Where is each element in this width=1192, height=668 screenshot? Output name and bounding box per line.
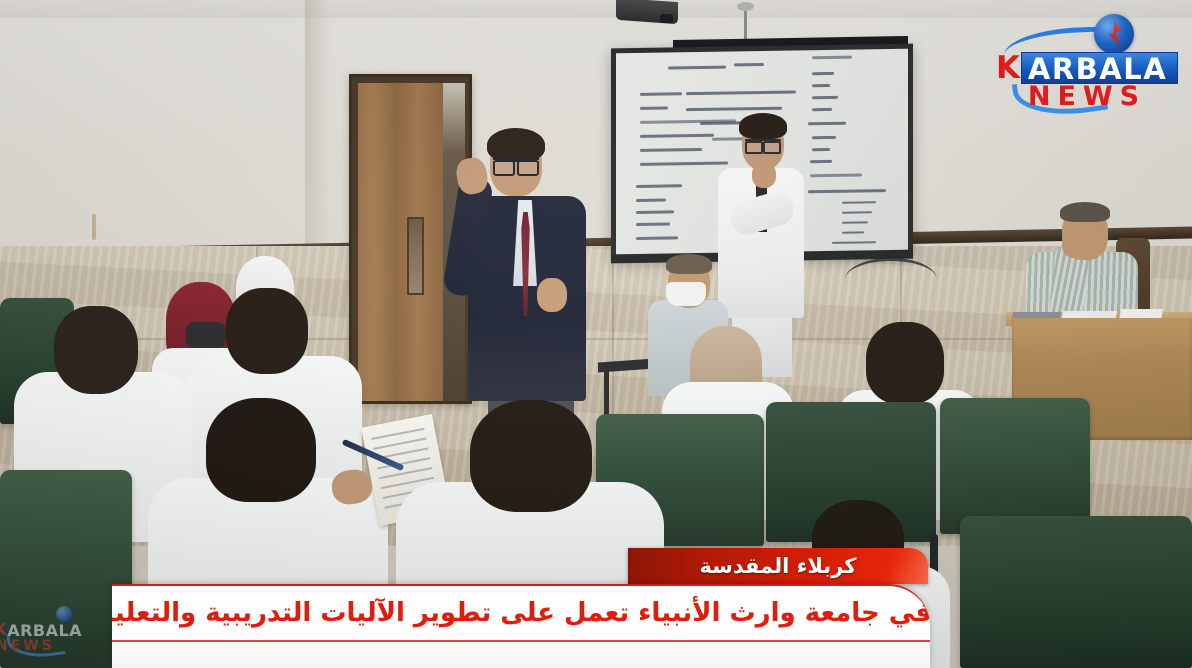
labcoat-man-glasses-icon xyxy=(745,139,781,148)
ceiling-rod xyxy=(744,6,747,40)
student-right-head xyxy=(866,322,944,404)
seated-man-hair xyxy=(1060,202,1110,222)
wall-corner xyxy=(305,0,331,250)
ceiling-rod-knob xyxy=(737,2,754,11)
student-far-left-head xyxy=(54,306,138,394)
black-face-mask-icon xyxy=(186,322,226,348)
student-back-left-head xyxy=(226,288,308,374)
labcoat-man-hair xyxy=(739,113,787,139)
logo-globe-icon xyxy=(1094,14,1134,54)
door-leaf xyxy=(358,83,444,401)
channel-logo: K ARBALA NEWS xyxy=(990,14,1178,110)
speaker-glasses-icon xyxy=(493,158,539,170)
broadcast-frame: K ARBALA NEWS K ARBALA NEWS كربلاء المقد… xyxy=(0,0,1192,668)
door-handle xyxy=(92,214,96,240)
student-front-left-head xyxy=(206,398,316,502)
labcoat-man-hand xyxy=(752,162,776,188)
lecture-seat xyxy=(940,398,1090,534)
seated-man-hand xyxy=(1062,232,1088,258)
lower-third: كربلاء المقدسة كلية الطب في جامعة وارث ا… xyxy=(0,548,1192,668)
door-window xyxy=(407,217,424,295)
headline-text: كلية الطب في جامعة وارث الأنبياء تعمل عل… xyxy=(112,598,930,655)
face-mask-icon xyxy=(666,282,706,306)
logo-word-news: NEWS xyxy=(996,82,1178,112)
speaker-hair xyxy=(487,128,545,162)
masked-attendee-hair xyxy=(666,254,712,274)
projector-lens xyxy=(660,14,673,23)
speaker-lower-hand xyxy=(537,278,567,312)
location-tab: كربلاء المقدسة xyxy=(628,548,928,584)
news-ticker-bar: كلية الطب في جامعة وارث الأنبياء تعمل عل… xyxy=(112,584,930,668)
location-label: كربلاء المقدسة xyxy=(700,554,857,578)
logo-letter-k: K xyxy=(990,52,1021,84)
student-front-center-head xyxy=(470,400,592,512)
